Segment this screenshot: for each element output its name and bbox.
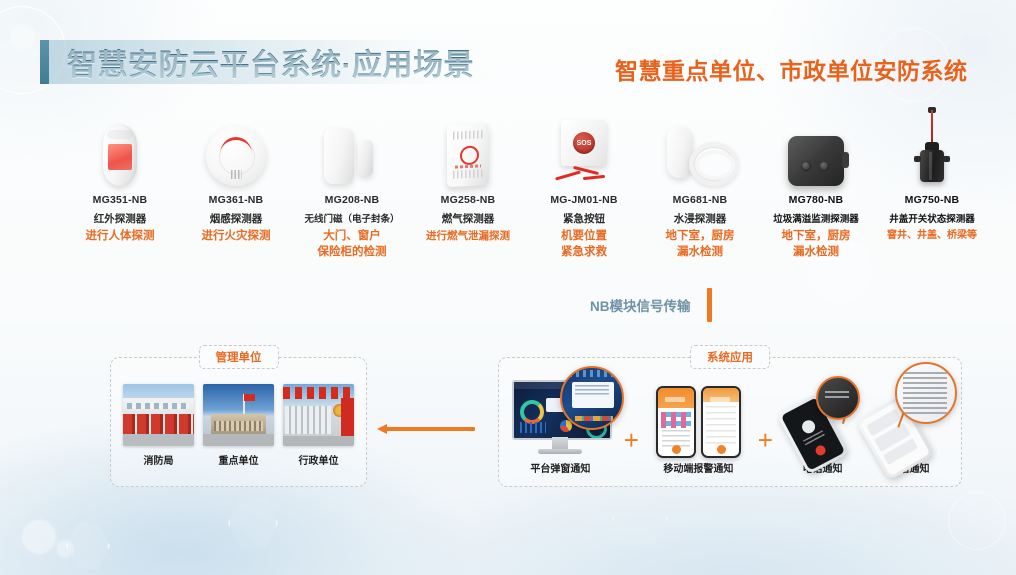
device-name: 无线门磁（电子封条） (292, 211, 412, 225)
device-use: 进行人体探测 (60, 228, 180, 244)
system-applications-list: 平台弹窗通知 + 移动端报警通知 + (505, 376, 955, 480)
water-leak-detector-icon (640, 108, 760, 186)
sms-message-image (864, 376, 955, 458)
smoke-detector-icon (176, 108, 296, 186)
device-use: 进行火灾探测 (176, 228, 296, 244)
device-model: MG-JM01-NB (524, 194, 644, 206)
sos-label: SOS (573, 132, 595, 154)
title-band: 智慧安防云平台系统·应用场景 (49, 40, 496, 84)
plus-separator-1: + (616, 427, 647, 453)
key-unit-photo (203, 384, 274, 446)
device-card-mg208[interactable]: MG208-NB 无线门磁（电子封条） 大门、窗户 保险柜的检测 (292, 108, 412, 225)
device-model: MG208-NB (292, 194, 412, 206)
item-caption: 消防局 (123, 452, 194, 467)
list-item[interactable]: 电话通知 (781, 376, 864, 475)
management-units-tab: 管理单位 (199, 345, 279, 369)
device-card-mg258[interactable]: MG258-NB 燃气探测器 进行燃气泄漏探测 (408, 108, 528, 226)
phone-call-image (781, 376, 864, 458)
device-card-mg750[interactable]: MG750-NB 井盖开关状态探测器 窨井、井盖、桥梁等 (872, 108, 992, 225)
device-model: MG258-NB (408, 194, 528, 206)
government-building-photo (283, 384, 354, 446)
door-contact-icon (292, 108, 412, 186)
page-subtitle: 智慧重点单位、市政单位安防系统 (615, 52, 968, 86)
dashboard-zoom-bubble (560, 366, 624, 430)
mobile-app-alarm-image (647, 376, 750, 458)
nb-transmission: NB模块信号传输 (590, 288, 712, 322)
fire-station-photo (123, 384, 194, 446)
list-item[interactable]: 移动端报警通知 (647, 376, 750, 475)
device-model: MG681-NB (640, 194, 760, 206)
item-caption: 重点单位 (203, 452, 274, 467)
device-use: 地下室，厨房 漏水检测 (756, 228, 876, 260)
plus-separator-2: + (750, 427, 781, 453)
flow-arrow-left (377, 424, 475, 434)
device-row: MG351-NB 红外探测器 进行人体探测 MG361-NB 烟感探测器 进行火… (60, 108, 960, 268)
device-model: MG780-NB (756, 194, 876, 206)
slide-canvas: 智慧安防云平台系统·应用场景 智慧重点单位、市政单位安防系统 MG351-NB … (0, 0, 1016, 575)
title-accent-bar (40, 40, 49, 84)
list-item[interactable]: 消防局 (123, 384, 194, 467)
device-name: 井盖开关状态探测器 (872, 211, 992, 225)
device-name: 垃圾满溢监测探测器 (756, 211, 876, 225)
device-name: 烟感探测器 (176, 211, 296, 226)
device-card-mg780[interactable]: MG780-NB 垃圾满溢监测探测器 地下室，厨房 漏水检测 (756, 108, 876, 225)
device-card-mg361[interactable]: MG361-NB 烟感探测器 进行火灾探测 (176, 108, 296, 226)
device-name: 燃气探测器 (408, 211, 528, 226)
device-use: 机要位置 紧急求救 (524, 228, 644, 260)
gas-detector-icon (408, 108, 528, 186)
title-text: 智慧安防云平台系统·应用场景 (67, 40, 474, 84)
item-caption: 行政单位 (283, 452, 354, 467)
trash-overflow-detector-icon (756, 108, 876, 186)
device-name: 水浸探测器 (640, 211, 760, 226)
nb-transmission-label: NB模块信号传输 (590, 295, 691, 315)
system-applications-tab: 系统应用 (690, 345, 770, 369)
pir-detector-icon (60, 108, 180, 186)
device-use: 大门、窗户 保险柜的检测 (292, 228, 412, 260)
manhole-cover-detector-icon (872, 108, 992, 186)
sos-button-icon: SOS (524, 108, 644, 186)
management-units-list: 消防局 重点单位 行政单位 (123, 384, 354, 467)
background (0, 0, 1016, 575)
device-name: 紧急按钮 (524, 211, 644, 226)
device-model: MG750-NB (872, 194, 992, 206)
device-name: 红外探测器 (60, 211, 180, 226)
list-item[interactable]: 行政单位 (283, 384, 354, 467)
management-units-panel: 管理单位 消防局 重点单位 行政单位 (110, 357, 367, 487)
item-caption: 平台弹窗通知 (505, 460, 616, 475)
list-item[interactable]: 平台弹窗通知 (505, 376, 616, 475)
item-caption: 移动端报警通知 (647, 460, 750, 475)
device-model: MG351-NB (60, 194, 180, 206)
desktop-dashboard-image (505, 376, 616, 458)
sms-zoom-bubble (895, 362, 957, 424)
device-card-mg351[interactable]: MG351-NB 红外探测器 进行人体探测 (60, 108, 180, 226)
call-zoom-bubble (816, 376, 860, 420)
nb-transmission-bar (707, 288, 712, 322)
list-item[interactable]: 重点单位 (203, 384, 274, 467)
device-card-mg681[interactable]: MG681-NB 水浸探测器 地下室，厨房 漏水检测 (640, 108, 760, 226)
system-applications-panel: 系统应用 平台弹窗通知 + (498, 357, 962, 487)
page-title: 智慧安防云平台系统·应用场景 (40, 40, 496, 84)
device-card-mgjm01[interactable]: SOS MG-JM01-NB 紧急按钮 机要位置 紧急求救 (524, 108, 644, 226)
device-model: MG361-NB (176, 194, 296, 206)
device-use: 窨井、井盖、桥梁等 (872, 228, 992, 244)
list-item[interactable]: 短信通知 (864, 376, 955, 475)
device-use: 进行燃气泄漏探测 (408, 228, 528, 244)
device-use: 地下室，厨房 漏水检测 (640, 228, 760, 260)
